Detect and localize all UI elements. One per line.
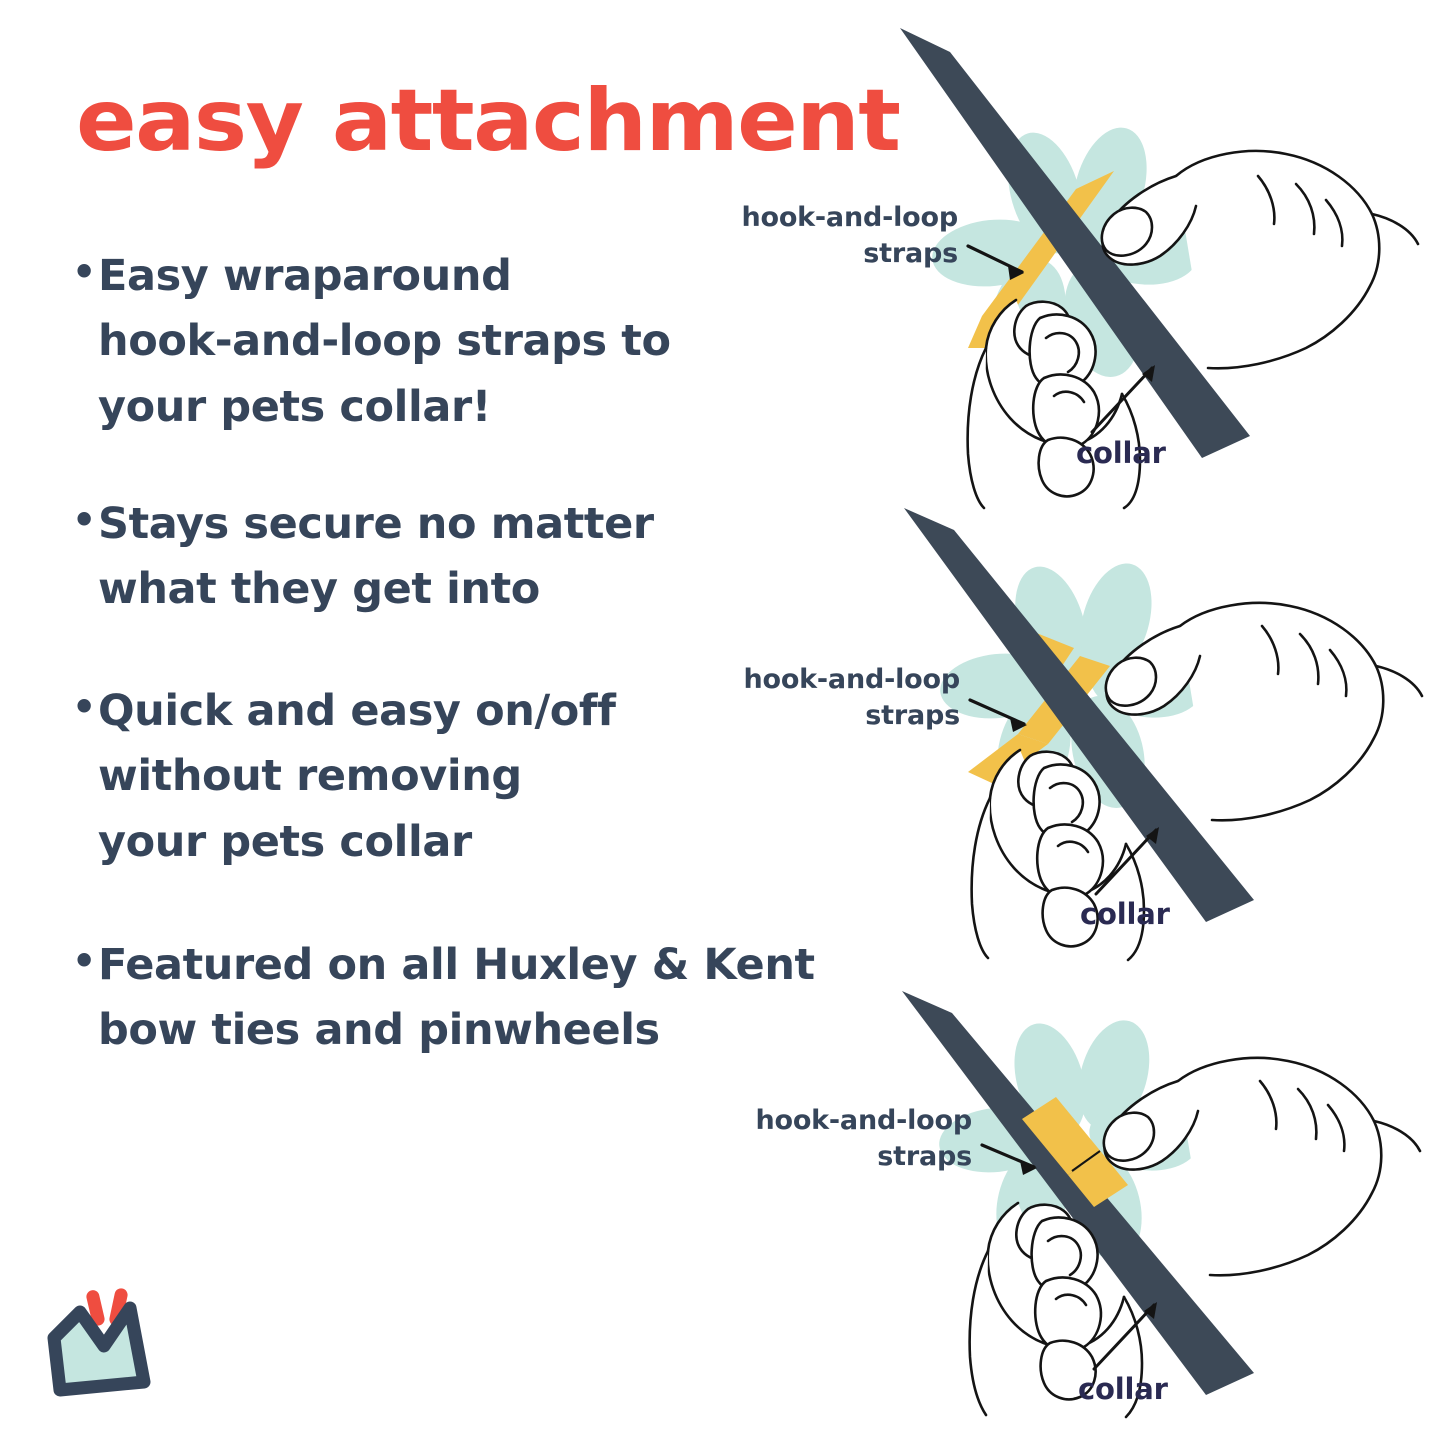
hook-and-loop-label-line2: straps — [877, 1141, 972, 1172]
hook-and-loop-label-line1: hook-and-loop — [743, 664, 960, 695]
bullet-marker-icon: • — [72, 244, 98, 302]
illustration-step-2: hook-and-loop straps collar — [718, 500, 1445, 970]
hook-and-loop-label: hook-and-loop straps — [741, 202, 958, 269]
brand-logo — [44, 1282, 184, 1412]
collar-arrow-icon — [1096, 830, 1156, 894]
illustration-step-1: hook-and-loop straps collar — [710, 18, 1440, 508]
collar-label: collar — [1080, 897, 1171, 931]
bullet-marker-icon: • — [72, 933, 98, 991]
bullet-marker-icon: • — [72, 492, 98, 550]
collar-arrow-icon — [1092, 368, 1152, 432]
hook-and-loop-label-line2: straps — [863, 238, 958, 269]
hook-and-loop-label: hook-and-loop straps — [755, 1105, 972, 1172]
collar-label: collar — [1078, 1372, 1169, 1406]
collar-arrow-icon — [1094, 1305, 1154, 1369]
hook-and-loop-label-line1: hook-and-loop — [755, 1105, 972, 1136]
hook-and-loop-label-line1: hook-and-loop — [741, 202, 958, 233]
hook-and-loop-label: hook-and-loop straps — [743, 664, 960, 731]
hook-and-loop-label-line2: straps — [865, 700, 960, 731]
collar-label: collar — [1076, 436, 1167, 470]
illustration-step-3: hook-and-loop straps collar — [720, 985, 1445, 1445]
bullet-marker-icon: • — [72, 679, 98, 737]
infographic-canvas: easy attachment • Easy wraparound hook-a… — [0, 0, 1445, 1445]
